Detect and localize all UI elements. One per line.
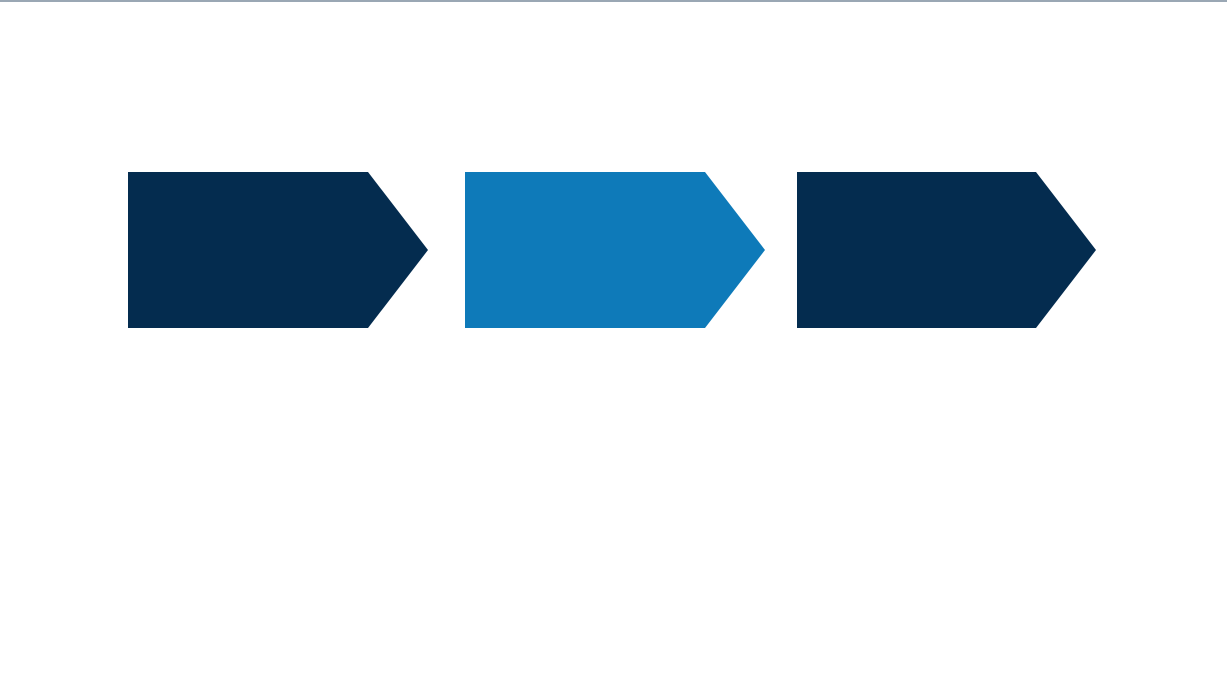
process-step-2-line-1: 针对性 xyxy=(563,36,662,68)
process-step-2[interactable] xyxy=(465,172,765,328)
chevron-shape-2 xyxy=(465,172,765,328)
process-step-2-line-2: 地解决 xyxy=(563,88,662,120)
process-step-3-line-2: 客服查 xyxy=(888,88,987,120)
slide-canvas: 先找限 制原因 针对性 地解决 不懂找 客服查 xyxy=(0,0,1227,691)
process-step-3-line-1: 不懂找 xyxy=(888,36,987,68)
process-step-2-label: 针对性 地解决 xyxy=(563,0,662,156)
process-step-1-line-2: 制原因 xyxy=(203,88,302,120)
chevron-shape-1 xyxy=(128,172,428,328)
process-step-3-label: 不懂找 客服查 xyxy=(888,0,987,156)
process-flow-diagram: 先找限 制原因 针对性 地解决 不懂找 客服查 xyxy=(0,0,1227,691)
process-step-3[interactable] xyxy=(797,172,1096,328)
process-step-1-line-1: 先找限 xyxy=(203,36,302,68)
process-step-1-label: 先找限 制原因 xyxy=(203,0,302,156)
chevron-shape-3 xyxy=(797,172,1096,328)
process-step-1[interactable] xyxy=(128,172,428,328)
